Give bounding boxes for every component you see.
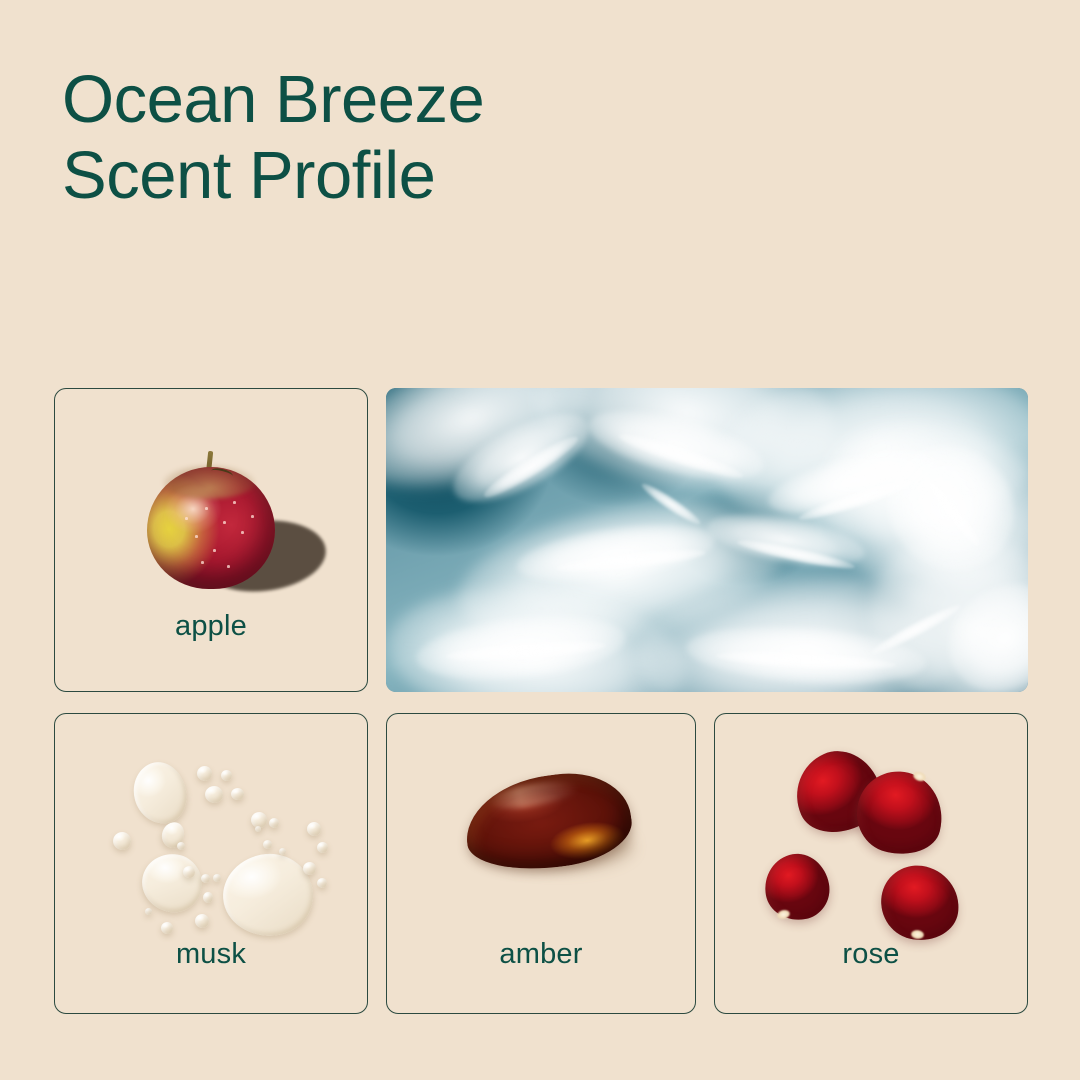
scent-card-label-musk: musk	[55, 938, 367, 971]
scent-card-apple[interactable]: apple	[54, 388, 368, 692]
rose-petal	[760, 849, 834, 925]
scent-card-label-amber: amber	[387, 938, 695, 971]
page-title: Ocean Breeze Scent Profile	[62, 62, 762, 214]
title-line-1: Ocean Breeze	[62, 62, 762, 138]
scent-card-amber[interactable]: amber	[386, 713, 696, 1014]
scent-card-rose[interactable]: rose	[714, 713, 1028, 1014]
apple-icon	[55, 389, 367, 691]
scent-note-grid: apple	[54, 388, 1028, 1014]
scent-card-label-apple: apple	[55, 610, 367, 643]
apple-top-shade	[163, 465, 255, 499]
ocean-wave-image[interactable]	[386, 388, 1028, 692]
scent-card-musk[interactable]: musk	[54, 713, 368, 1014]
title-line-2: Scent Profile	[62, 138, 762, 214]
scent-card-label-rose: rose	[715, 938, 1027, 971]
